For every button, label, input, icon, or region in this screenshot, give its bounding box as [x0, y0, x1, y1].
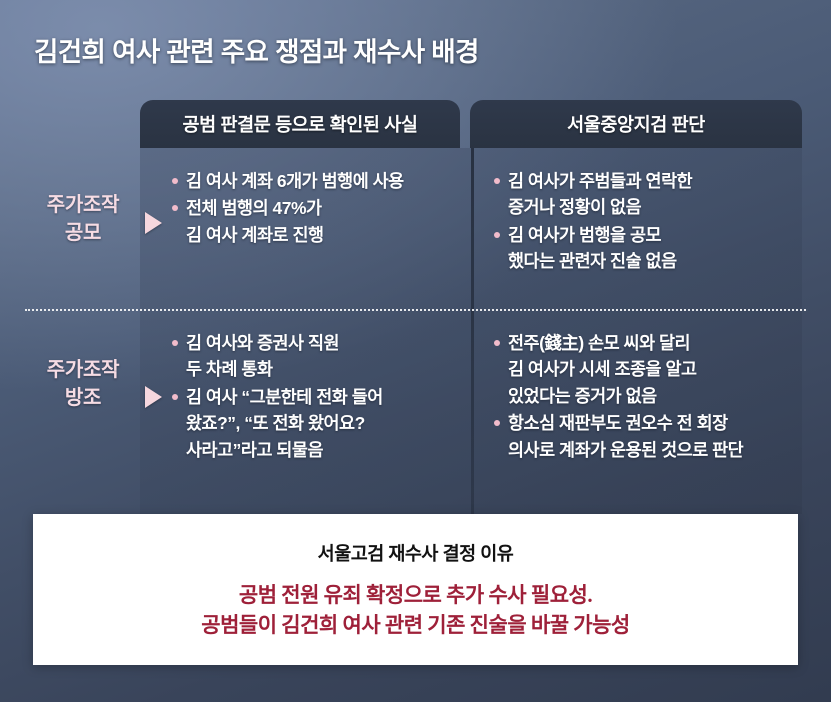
list-item: 김 여사가 범행을 공모 했다는 관련자 진술 없음: [494, 222, 800, 275]
list-item: 김 여사가 주범들과 연락한 증거나 정황이 없음: [494, 168, 800, 221]
page-title: 김건희 여사 관련 주요 쟁점과 재수사 배경: [34, 30, 479, 69]
row-separator: [25, 309, 806, 311]
footer-callout-box: 서울고검 재수사 결정 이유 공범 전원 유죄 확정으로 추가 수사 필요성. …: [33, 514, 798, 665]
list-item: 전체 범행의 47%가 김 여사 계좌로 진행: [172, 195, 462, 248]
row-label-abetting: 주가조작 방조: [24, 357, 142, 412]
column-divider: [471, 148, 474, 514]
cell-row0-prosecution: 김 여사가 주범들과 연락한 증거나 정황이 없음 김 여사가 범행을 공모 했…: [494, 168, 800, 276]
cell-row0-evidence: 김 여사 계좌 6개가 범행에 사용 전체 범행의 47%가 김 여사 계좌로 …: [172, 168, 462, 249]
footer-body: 공범 전원 유죄 확정으로 추가 수사 필요성. 공범들이 김건희 여사 관련 …: [33, 580, 798, 641]
list-item: 김 여사 “그분한테 전화 들어 왔죠?”, “또 전화 왔어요? 사라고”라고…: [172, 384, 462, 463]
infographic-canvas: 김건희 여사 관련 주요 쟁점과 재수사 배경 공범 판결문 등으로 확인된 사…: [0, 0, 831, 702]
cell-row1-prosecution: 전주(錢主) 손모 씨와 달리 김 여사가 시세 조종을 알고 있었다는 증거가…: [494, 330, 800, 464]
cell-row1-evidence: 김 여사와 증권사 직원 두 차례 통화 김 여사 “그분한테 전화 들어 왔죠…: [172, 330, 462, 464]
column-header-prosecution: 서울중앙지검 판단: [470, 100, 802, 148]
triangle-right-icon: [145, 386, 162, 408]
list-item: 전주(錢主) 손모 씨와 달리 김 여사가 시세 조종을 알고 있었다는 증거가…: [494, 330, 800, 409]
row-label-conspiracy: 주가조작 공모: [24, 192, 142, 247]
list-item: 김 여사 계좌 6개가 범행에 사용: [172, 168, 462, 194]
column-header-evidence: 공범 판결문 등으로 확인된 사실: [140, 100, 460, 148]
list-item: 항소심 재판부도 권오수 전 회장 의사로 계좌가 운용된 것으로 판단: [494, 410, 800, 463]
triangle-right-icon: [145, 212, 162, 234]
footer-heading: 서울고검 재수사 결정 이유: [33, 540, 798, 566]
list-item: 김 여사와 증권사 직원 두 차례 통화: [172, 330, 462, 383]
